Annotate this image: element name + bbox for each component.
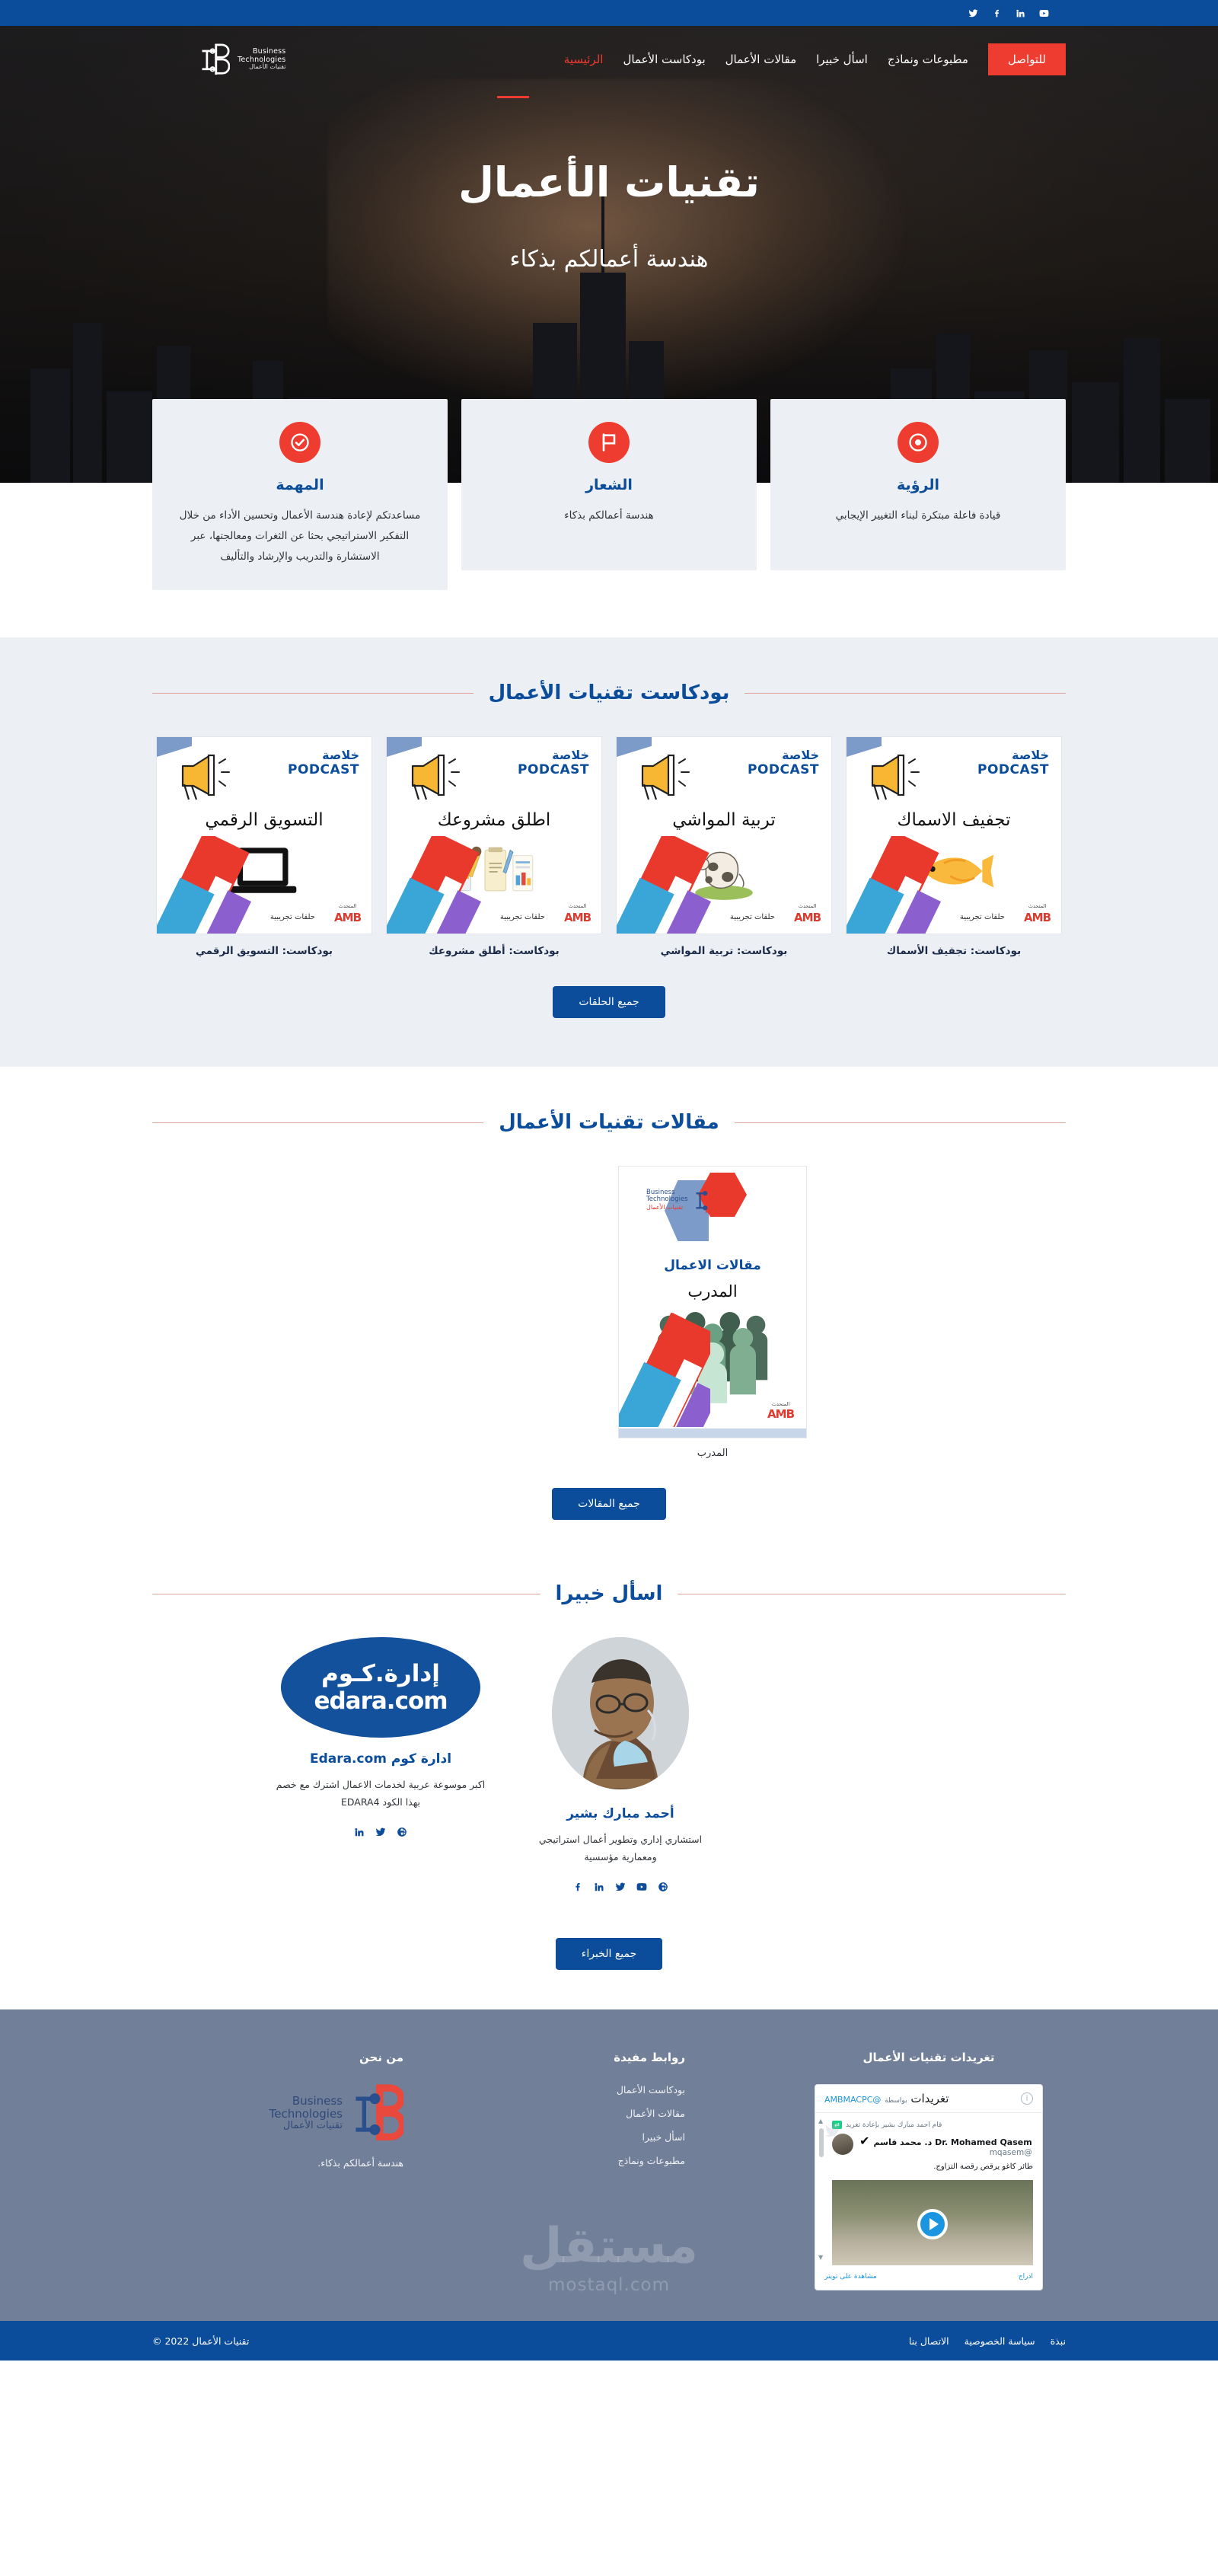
edara-logo: إدارة.كـوم edara.com — [281, 1637, 480, 1738]
globe-icon[interactable] — [397, 1826, 407, 1840]
info-icon[interactable]: i — [1021, 2092, 1033, 2105]
article-cover-title: المدرب — [619, 1282, 806, 1301]
footer-links-column: روابط مفيدة بودكاست الأعمال مقالات الأعم… — [510, 2051, 685, 2290]
sponsor-logo: المتحدث AMB — [767, 1401, 794, 1421]
expert-name: ادارة كوم Edara.com — [270, 1751, 491, 1767]
articles-grid: Business Technologies تقنيات الأعمال مقا… — [152, 1166, 1066, 1459]
footer-link-podcast[interactable]: بودكاست الأعمال — [510, 2084, 685, 2096]
cover-ribbons — [617, 836, 714, 934]
article-logo-line3: تقنيات الأعمال — [646, 1204, 688, 1211]
expert-social-links — [270, 1826, 491, 1840]
bottom-link-privacy[interactable]: سياسة الخصوصية — [965, 2335, 1035, 2347]
section-title: مقالات تقنيات الأعمال — [499, 1111, 719, 1134]
megaphone-icon — [863, 749, 929, 804]
linkedin-icon[interactable] — [354, 1826, 365, 1840]
experts-grid: أحمد مبارك بشير استشاري إداري وتطوير أعم… — [152, 1637, 837, 1895]
twitter-widget-footer: ادراج مشاهدة على تويتر — [815, 2265, 1042, 2290]
cover-title: اطلق مشروعك — [387, 810, 601, 830]
cover-title: التسويق الرقمي — [157, 810, 371, 830]
speaker-label: المتحدث — [334, 903, 361, 909]
speaker-label: المتحدث — [794, 903, 821, 909]
footer-link-ask-expert[interactable]: اسأل خبيرا — [510, 2131, 685, 2143]
hero-subtitle: هندسة أعمالكم بذكاء — [0, 246, 1218, 273]
expert-role: اكبر موسوعة عربية لخدمات الاعمال اشترك م… — [270, 1776, 491, 1811]
podcast-button-row: جميع الحلقات — [152, 986, 1066, 1018]
check-circle-icon — [279, 422, 320, 463]
podcast-cover[interactable]: خلاصة PODCAST تربية المواشي — [616, 736, 832, 934]
feature-card-title: المهمة — [172, 477, 428, 493]
podcast-cover[interactable]: خلاصة PODCAST اطلق مشروعك — [386, 736, 602, 934]
podcast-card[interactable]: خلاصة PODCAST اطلق مشروعك — [386, 736, 602, 957]
speaker-label: المتحدث — [1024, 903, 1051, 909]
cover-title: تجفيف الاسماك — [847, 810, 1061, 830]
cover-brand: خلاصة PODCAST — [518, 748, 589, 777]
feature-card-vision: الرؤية قيادة فاعلة مبتكرة لبناء التغيير … — [770, 399, 1066, 570]
feature-card-text: هندسة أعمالكم بذكاء — [481, 506, 737, 526]
facebook-icon[interactable] — [992, 8, 1002, 18]
expert-social-links — [521, 1881, 719, 1895]
bottom-link-about[interactable]: نبذة — [1051, 2335, 1066, 2347]
twitter-icon[interactable] — [375, 1826, 386, 1840]
nav-links: للتواصل مطبوعات ونماذج اسأل خبيرا مقالات… — [564, 43, 1066, 75]
all-episodes-button[interactable]: جميع الحلقات — [553, 986, 665, 1018]
cover-episodes-label: حلقات تجريبية — [500, 913, 545, 921]
expert-role: استشاري إداري وتطوير أعمال استراتيجي ومع… — [521, 1831, 719, 1866]
youtube-icon[interactable] — [1039, 8, 1049, 18]
site-logo[interactable]: Business Technologies تقنيات الأعمال — [198, 43, 285, 76]
footer-columns: تغريدات تقنيات الأعمال i تغريدات بواسطة … — [152, 2051, 1066, 2290]
homepage: نبذة سياسة الخصوصية الاتصال بنا — [0, 0, 1218, 2361]
expert-card[interactable]: أحمد مبارك بشير استشاري إداري وتطوير أعم… — [521, 1637, 719, 1895]
linkedin-icon[interactable] — [594, 1881, 604, 1895]
cover-ribbons — [157, 836, 254, 934]
copyright-text: تقنيات الأعمال 2022 © — [152, 2335, 249, 2347]
youtube-icon[interactable] — [636, 1881, 647, 1895]
twitter-widget-title: تغريدات بواسطة @AMBMACPC — [824, 2092, 949, 2105]
section-title: بودكاست تقنيات الأعمال — [489, 682, 730, 704]
cover-khulasa-label: خلاصة — [288, 748, 359, 762]
cover-podcast-label: PODCAST — [288, 762, 359, 777]
footer-logo-line1: Business — [269, 2095, 343, 2108]
articles-section: مقالات تقنيات الأعمال — [0, 1067, 1218, 1559]
footer-logo-line3: تقنيات الأعمال — [269, 2121, 343, 2132]
twitter-widget-handle[interactable]: @AMBMACPC — [824, 2095, 881, 2105]
scroll-down-icon[interactable]: ▼ — [818, 2254, 823, 2261]
nav-active-underline — [497, 96, 529, 98]
section-title: اسأل خبيرا — [556, 1582, 663, 1605]
podcast-cover[interactable]: خلاصة PODCAST التسويق الرقمي — [156, 736, 372, 934]
podcast-caption: بودكاست: تربية المواشي — [616, 945, 832, 957]
tweet-text: طائر كاغو يرقص رقصة التزاوج. — [832, 2163, 1033, 2171]
speaker-label: المتحدث — [767, 1401, 794, 1407]
cover-brand: خلاصة PODCAST — [977, 748, 1049, 777]
hero-text-block: تقنيات الأعمال هندسة أعمالكم بذكاء — [0, 158, 1218, 273]
flag-icon — [588, 422, 630, 463]
globe-icon[interactable] — [658, 1881, 668, 1895]
play-icon[interactable] — [917, 2209, 948, 2239]
twitter-widget-by: بواسطة — [885, 2097, 907, 2105]
cover-ribbons — [619, 1313, 710, 1427]
footer-link-list: بودكاست الأعمال مقالات الأعمال اسأل خبير… — [510, 2084, 685, 2166]
twitter-widget-body: ▲ ▼ ⇄ قام احمد مبارك بشير بإعادة تغريد — [815, 2113, 1042, 2265]
top-utility-bar: نبذة سياسة الخصوصية الاتصال بنا — [0, 0, 1218, 26]
widget-view-on-twitter-link[interactable]: مشاهدة على تويتر — [824, 2273, 877, 2281]
bottom-nav-links: نبذة سياسة الخصوصية الاتصال بنا — [909, 2335, 1066, 2347]
widget-embed-link[interactable]: ادراج — [1019, 2273, 1033, 2281]
nav-item-ask-expert[interactable]: اسأل خبيرا — [816, 53, 868, 66]
footer-links-heading: روابط مفيدة — [510, 2051, 685, 2064]
nav-item-articles[interactable]: مقالات الأعمال — [725, 53, 796, 66]
cover-brand: خلاصة PODCAST — [748, 748, 819, 777]
cover-khulasa-label: خلاصة — [977, 748, 1049, 762]
brand-line1: Business — [238, 48, 285, 56]
divider-line — [735, 1122, 1066, 1123]
verified-icon: ✔ — [859, 2134, 869, 2148]
podcast-card[interactable]: خلاصة PODCAST التسويق الرقمي — [156, 736, 372, 957]
podcast-section-heading: بودكاست تقنيات الأعمال — [152, 682, 1066, 704]
feature-card-mission: المهمة مساعدتكم لإعادة هندسة الأعمال وتح… — [152, 399, 448, 590]
nav-item-podcast[interactable]: بودكاست الأعمال — [623, 53, 705, 66]
podcast-cover[interactable]: خلاصة PODCAST تجفيف الاسماك — [846, 736, 1062, 934]
facebook-icon[interactable] — [572, 1881, 583, 1895]
cover-khulasa-label: خلاصة — [518, 748, 589, 762]
target-icon — [898, 422, 939, 463]
article-cover-heading: مقالات الاعمال — [619, 1258, 806, 1273]
podcast-card[interactable]: خلاصة PODCAST تربية المواشي — [616, 736, 832, 957]
cover-episodes-label: حلقات تجريبية — [960, 913, 1005, 921]
retweet-text: قام احمد مبارك بشير بإعادة تغريد — [846, 2121, 942, 2129]
footer-tweets-heading: تغريدات تقنيات الأعمال — [792, 2051, 1066, 2064]
cover-podcast-label: PODCAST — [748, 762, 819, 777]
edara-logo-line2: edara.com — [314, 1687, 447, 1715]
feature-card-title: الشعار — [481, 477, 737, 493]
megaphone-icon — [633, 749, 699, 804]
divider-line — [152, 1122, 483, 1123]
footer-tagline: هندسة أعمالكم بذكاء. — [152, 2157, 403, 2169]
tweet-author-name: Dr. Mohamed Qasem د. محمد قاسم — [874, 2137, 1032, 2147]
edara-logo-line1: إدارة.كـوم — [321, 1660, 440, 1687]
feature-cards: الرؤية قيادة فاعلة مبتكرة لبناء التغيير … — [0, 399, 1218, 590]
speaker-label: المتحدث — [564, 903, 591, 909]
article-logo-line2: Technologies — [646, 1196, 688, 1204]
podcast-caption: بودكاست: التسويق الرقمي — [156, 945, 372, 957]
sponsor-mark: AMB — [767, 1407, 794, 1421]
divider-line — [152, 693, 473, 694]
cover-episodes-label: حلقات تجريبية — [270, 913, 315, 921]
tweet-author-handle[interactable]: @mqasem — [859, 2148, 1032, 2157]
cover-ribbons — [847, 836, 944, 934]
podcast-grid: خلاصة PODCAST تجفيف الاسماك — [152, 736, 1066, 957]
feature-card-slogan: الشعار هندسة أعمالكم بذكاء — [461, 399, 757, 570]
all-experts-button[interactable]: جميع الخبراء — [556, 1938, 663, 1970]
cover-title: تربية المواشي — [617, 810, 831, 830]
articles-button-row: جميع المقالات — [152, 1488, 1066, 1520]
footer-logo-text: Business Technologies تقنيات الأعمال — [269, 2095, 343, 2132]
twitter-icon[interactable] — [615, 1881, 626, 1895]
megaphone-icon — [403, 749, 469, 804]
site-footer: تغريدات تقنيات الأعمال i تغريدات بواسطة … — [0, 2009, 1218, 2321]
footer-logo: Business Technologies تقنيات الأعمال — [152, 2084, 403, 2142]
podcast-card[interactable]: خلاصة PODCAST تجفيف الاسماك — [846, 736, 1062, 957]
tb-logo-icon — [349, 2084, 403, 2142]
cover-episodes-label: حلقات تجريبية — [730, 913, 775, 921]
twitter-widget[interactable]: i تغريدات بواسطة @AMBMACPC ▲ ▼ — [815, 2084, 1043, 2290]
tb-logo-icon — [693, 1186, 719, 1214]
article-caption: المدرب — [618, 1448, 807, 1459]
tweet-author-row: Dr. Mohamed Qasem د. محمد قاسم ✔ @mqasem — [832, 2134, 1033, 2157]
tweet-media[interactable] — [832, 2180, 1033, 2265]
cover-brand: خلاصة PODCAST — [288, 748, 359, 777]
scroll-up-icon[interactable]: ▲ — [818, 2118, 823, 2124]
twitter-icon[interactable] — [968, 8, 978, 18]
cover-podcast-label: PODCAST — [977, 762, 1049, 777]
articles-section-heading: مقالات تقنيات الأعمال — [152, 1111, 1066, 1134]
footer-link-articles[interactable]: مقالات الأعمال — [510, 2108, 685, 2119]
cover-khulasa-label: خلاصة — [748, 748, 819, 762]
cover-footer-strip — [619, 1428, 806, 1438]
linkedin-icon[interactable] — [1016, 8, 1025, 18]
all-articles-button[interactable]: جميع المقالات — [552, 1488, 666, 1520]
nav-contact-button[interactable]: للتواصل — [988, 43, 1066, 75]
experts-section-heading: اسأل خبيرا — [152, 1582, 1066, 1605]
expert-name: أحمد مبارك بشير — [521, 1806, 719, 1821]
sponsor-mark: AMB — [1024, 911, 1051, 924]
cover-podcast-label: PODCAST — [518, 762, 589, 777]
nav-item-home[interactable]: الرئيسية — [564, 53, 604, 66]
sponsor-logo: المتحدث AMB — [1024, 903, 1051, 924]
megaphone-icon — [174, 749, 239, 804]
bottom-bar: نبذة سياسة الخصوصية الاتصال بنا تقنيات ا… — [0, 2321, 1218, 2361]
article-cover[interactable]: Business Technologies تقنيات الأعمال مقا… — [618, 1166, 807, 1438]
tweet-author-names: Dr. Mohamed Qasem د. محمد قاسم ✔ @mqasem — [859, 2134, 1032, 2157]
sponsor-mark: AMB — [564, 911, 591, 924]
brand-text: Business Technologies تقنيات الأعمال — [238, 48, 285, 71]
footer-about-column: من نحن Business Technologies تقنيات الأع… — [152, 2051, 403, 2290]
sponsor-mark: AMB — [794, 911, 821, 924]
retweet-line: ⇄ قام احمد مبارك بشير بإعادة تغريد — [832, 2121, 1033, 2129]
nav-item-publications[interactable]: مطبوعات ونماذج — [888, 53, 968, 66]
twitter-widget-label: تغريدات — [910, 2092, 949, 2105]
sponsor-mark: AMB — [334, 911, 361, 924]
hero-title: تقنيات الأعمال — [0, 158, 1218, 206]
feature-card-title: الرؤية — [790, 477, 1046, 493]
article-card[interactable]: Business Technologies تقنيات الأعمال مقا… — [618, 1166, 807, 1459]
sponsor-logo: المتحدث AMB — [794, 903, 821, 924]
twitter-widget-header: i تغريدات بواسطة @AMBMACPC — [815, 2085, 1042, 2113]
tb-logo-icon — [198, 43, 230, 76]
footer-tweets-column: تغريدات تقنيات الأعمال i تغريدات بواسطة … — [792, 2051, 1066, 2290]
divider-line — [745, 693, 1066, 694]
sponsor-logo: المتحدث AMB — [334, 903, 361, 924]
twitter-bird-icon — [824, 2122, 841, 2142]
feature-card-text: مساعدتكم لإعادة هندسة الأعمال وتحسين الأ… — [172, 506, 428, 567]
scrollbar-thumb[interactable] — [819, 2128, 824, 2157]
cover-ribbons — [387, 836, 484, 934]
divider-line — [678, 1594, 1066, 1594]
main-navbar: للتواصل مطبوعات ونماذج اسأل خبيرا مقالات… — [0, 26, 1218, 76]
bottom-link-contact[interactable]: الاتصال بنا — [909, 2335, 949, 2347]
sponsor-logo: المتحدث AMB — [564, 903, 591, 924]
footer-about-heading: من نحن — [152, 2051, 403, 2064]
footer-link-publications[interactable]: مطبوعات ونماذج — [510, 2155, 685, 2166]
podcast-caption: بودكاست: تجفيف الأسماك — [846, 945, 1062, 957]
experts-section: اسأل خبيرا — [0, 1559, 1218, 2009]
feature-card-text: قيادة فاعلة مبتكرة لبناء التغيير الإيجاب… — [790, 506, 1046, 526]
top-social-icons — [968, 8, 1049, 18]
podcast-caption: بودكاست: أطلق مشروعك — [386, 945, 602, 957]
article-logo: Business Technologies تقنيات الأعمال — [646, 1186, 719, 1214]
brand-line3: تقنيات الأعمال — [238, 64, 285, 71]
podcast-section: بودكاست تقنيات الأعمال خلاصة PODCAST — [0, 637, 1218, 1067]
divider-line — [152, 1594, 540, 1594]
experts-button-row: جميع الخبراء — [152, 1938, 1066, 1970]
avatar — [552, 1637, 689, 1789]
expert-card[interactable]: إدارة.كـوم edara.com ادارة كوم Edara.com… — [270, 1637, 491, 1840]
footer-logo-line2: Technologies — [269, 2108, 343, 2121]
